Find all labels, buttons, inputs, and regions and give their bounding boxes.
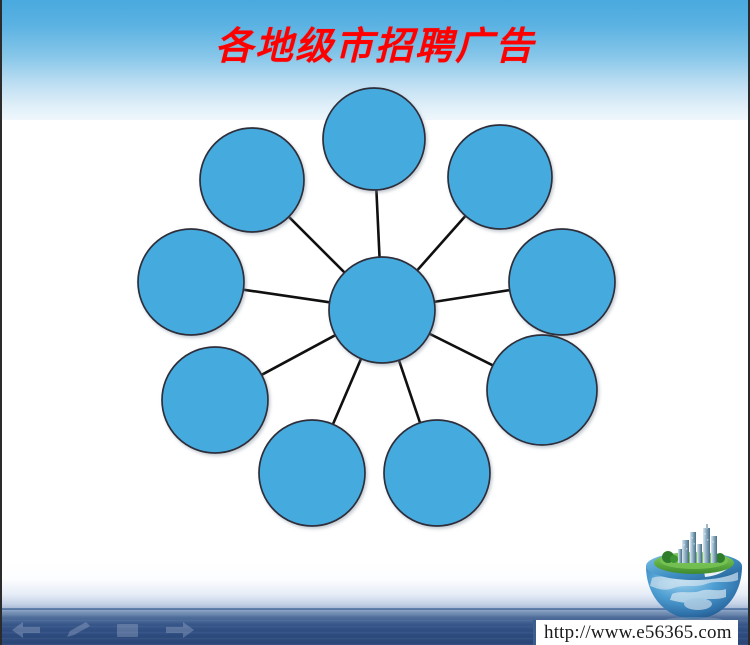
diagram-node-3[interactable] (509, 229, 615, 335)
diagram-node-4[interactable] (487, 335, 597, 445)
diagram-node-9[interactable] (200, 128, 304, 232)
earth-city-globe-logo (638, 522, 750, 626)
connector-line-3 (433, 290, 510, 302)
center-node-circle[interactable] (329, 257, 435, 363)
connector-line-1 (376, 189, 379, 258)
connector-line-7 (261, 335, 336, 376)
node-circle[interactable] (448, 125, 552, 229)
node-circle[interactable] (200, 128, 304, 232)
connector-line-6 (333, 358, 362, 425)
connector-line-4 (429, 333, 494, 366)
node-circle[interactable] (162, 347, 268, 453)
diagram-node-2[interactable] (448, 125, 552, 229)
diagram-node-1[interactable] (323, 88, 425, 190)
connector-line-2 (417, 215, 467, 271)
node-circle[interactable] (138, 229, 244, 335)
connector-line-5 (399, 359, 421, 423)
diagram-node-8[interactable] (138, 229, 244, 335)
diagram-node-7[interactable] (162, 347, 268, 453)
node-circle[interactable] (259, 420, 365, 526)
diagram-center-node[interactable] (329, 257, 435, 363)
diagram-node-6[interactable] (259, 420, 365, 526)
node-circle[interactable] (323, 88, 425, 190)
connector-line-9 (288, 216, 345, 273)
diagram-node-5[interactable] (384, 420, 490, 526)
node-layer (138, 88, 615, 526)
site-url-watermark: http://www.e56365.com (533, 620, 738, 645)
node-circle[interactable] (487, 335, 597, 445)
node-circle[interactable] (509, 229, 615, 335)
connector-line-8 (242, 290, 330, 303)
node-circle[interactable] (384, 420, 490, 526)
presentation-slide: 各地级市招聘广告 (0, 0, 750, 645)
